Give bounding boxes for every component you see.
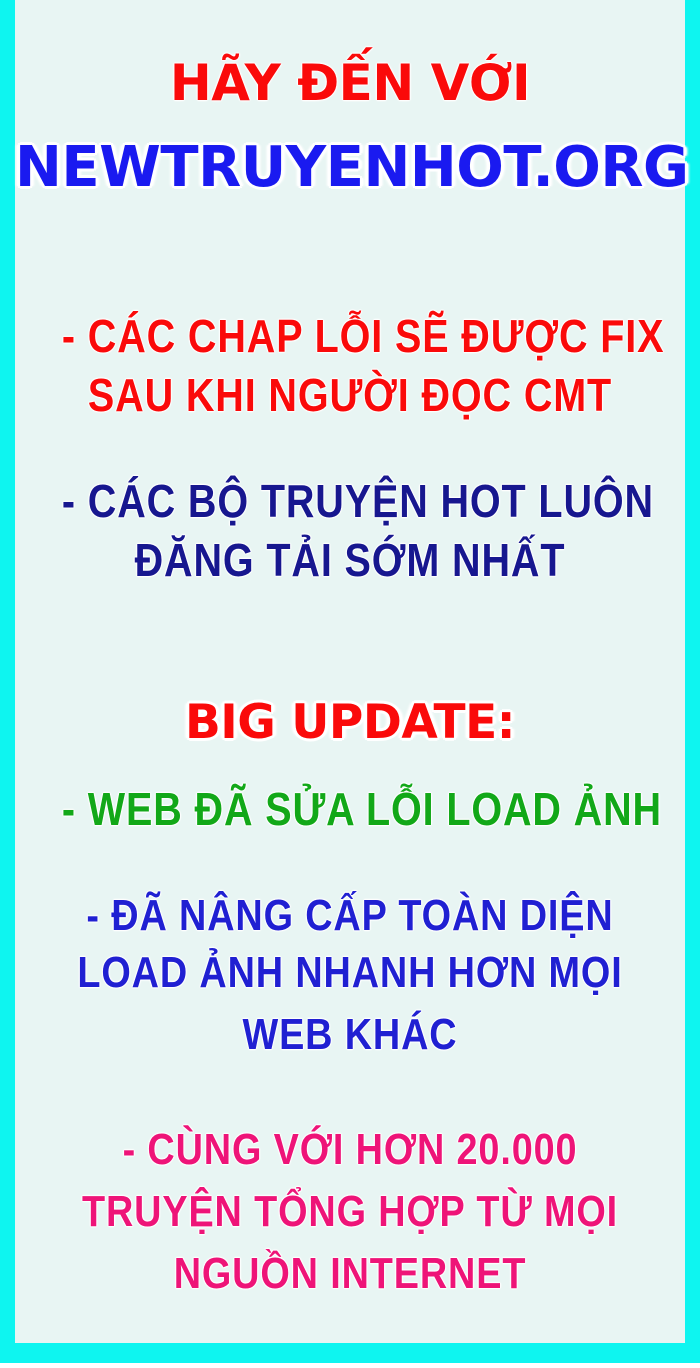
update-pink-line-2: TRUYỆN TỔNG HỢP TỪ MỌI	[62, 1190, 638, 1234]
update-pink-line-3-row: NGUỒN INTERNET	[15, 1252, 685, 1296]
note-navy-line-1: - CÁC BỘ TRUYỆN HOT LUÔN	[62, 478, 638, 524]
update-pink-line-3: NGUỒN INTERNET	[62, 1252, 638, 1296]
update-blue-line-3-row: WEB KHÁC	[15, 1013, 685, 1057]
note-red-line-1: - CÁC CHAP LỖI SẼ ĐƯỢC FIX	[62, 313, 638, 359]
site-url-row: NEWTRUYENHOT.ORG	[15, 140, 685, 196]
note-red-line-2-row: SAU KHI NGƯỜI ĐỌC CMT	[15, 372, 685, 418]
update-green-line-1-row: - WEB ĐÃ SỬA LỖI LOAD ẢNH	[15, 786, 685, 832]
update-green-line-1: - WEB ĐÃ SỬA LỖI LOAD ẢNH	[62, 786, 638, 832]
update-blue-line-2-row: LOAD ẢNH NHANH HƠN MỌI	[15, 951, 685, 995]
update-heading-text: BIG UPDATE:	[15, 699, 685, 746]
update-pink-line-2-row: TRUYỆN TỔNG HỢP TỪ MỌI	[15, 1190, 685, 1234]
announcement-banner: HÃY ĐẾN VỚI NEWTRUYENHOT.ORG - CÁC CHAP …	[0, 0, 700, 1368]
update-blue-line-1: - ĐÃ NÂNG CẤP TOÀN DIỆN	[62, 894, 638, 938]
update-pink-line-1-row: - CÙNG VỚI HƠN 20.000	[15, 1128, 685, 1172]
border-bottom	[0, 1343, 700, 1363]
border-right	[685, 0, 700, 1363]
note-navy-line-1-row: - CÁC BỘ TRUYỆN HOT LUÔN	[15, 478, 685, 524]
border-left	[0, 0, 15, 1363]
banner-content: HÃY ĐẾN VỚI NEWTRUYENHOT.ORG - CÁC CHAP …	[15, 0, 685, 1343]
note-navy-line-2: ĐĂNG TẢI SỚM NHẤT	[62, 537, 638, 583]
update-blue-line-3: WEB KHÁC	[62, 1013, 638, 1057]
hero-invitation-row: HÃY ĐẾN VỚI	[15, 58, 685, 108]
note-navy-line-2-row: ĐĂNG TẢI SỚM NHẤT	[15, 537, 685, 583]
update-heading-row: BIG UPDATE:	[15, 699, 685, 746]
update-pink-line-1: - CÙNG VỚI HƠN 20.000	[62, 1128, 638, 1172]
hero-invitation-text: HÃY ĐẾN VỚI	[15, 58, 685, 108]
site-url-text[interactable]: NEWTRUYENHOT.ORG	[15, 140, 685, 196]
update-blue-line-1-row: - ĐÃ NÂNG CẤP TOÀN DIỆN	[15, 894, 685, 938]
note-red-line-1-row: - CÁC CHAP LỖI SẼ ĐƯỢC FIX	[15, 313, 685, 359]
update-blue-line-2: LOAD ẢNH NHANH HƠN MỌI	[62, 951, 638, 995]
note-red-line-2: SAU KHI NGƯỜI ĐỌC CMT	[62, 372, 638, 418]
